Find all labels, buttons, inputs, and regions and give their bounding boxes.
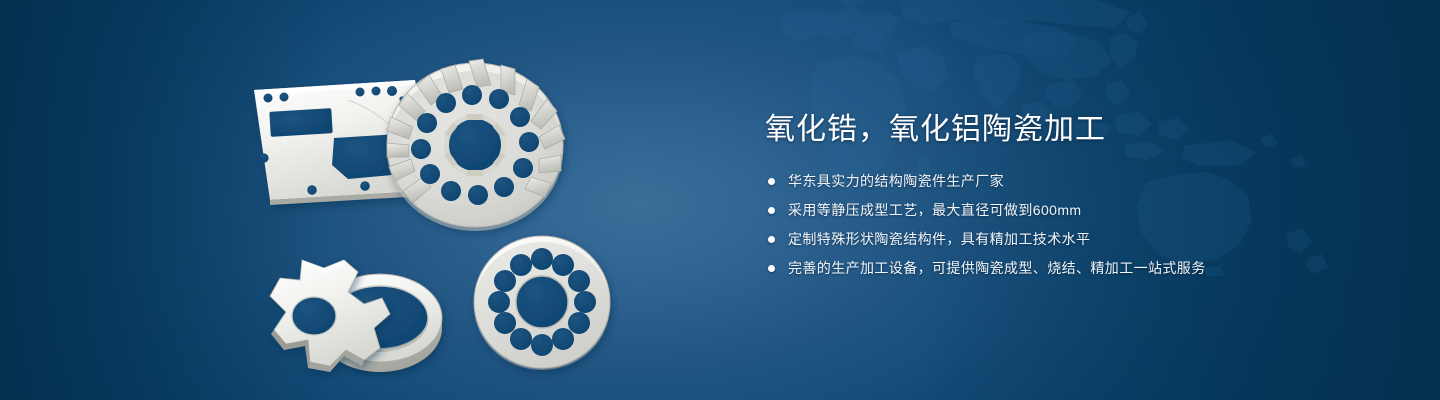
bullet-dot-icon bbox=[768, 178, 775, 185]
bullet-dot-icon bbox=[768, 265, 775, 272]
ceramic-products-image bbox=[230, 40, 700, 380]
list-item: 完善的生产加工设备，可提供陶瓷成型、烧结、精加工一站式服务 bbox=[765, 257, 1365, 279]
list-item: 华东具实力的结构陶瓷件生产厂家 bbox=[765, 170, 1365, 192]
list-item-label: 完善的生产加工设备，可提供陶瓷成型、烧结、精加工一站式服务 bbox=[788, 257, 1206, 279]
list-item: 定制特殊形状陶瓷结构件，具有精加工技术水平 bbox=[765, 228, 1365, 250]
bullet-dot-icon bbox=[768, 236, 775, 243]
hero-banner: 氧化锆，氧化铝陶瓷加工 华东具实力的结构陶瓷件生产厂家 采用等静压成型工艺，最大… bbox=[0, 0, 1440, 400]
list-item-label: 采用等静压成型工艺，最大直径可做到600mm bbox=[788, 199, 1081, 221]
list-item-label: 华东具实力的结构陶瓷件生产厂家 bbox=[788, 170, 1004, 192]
page-title: 氧化锆，氧化铝陶瓷加工 bbox=[765, 112, 1365, 148]
list-item: 采用等静压成型工艺，最大直径可做到600mm bbox=[765, 199, 1365, 221]
banner-copy: 氧化锆，氧化铝陶瓷加工 华东具实力的结构陶瓷件生产厂家 采用等静压成型工艺，最大… bbox=[765, 112, 1365, 286]
ceramic-perforated-disc bbox=[474, 236, 610, 370]
list-item-label: 定制特殊形状陶瓷结构件，具有精加工技术水平 bbox=[788, 228, 1090, 250]
bullet-dot-icon bbox=[768, 207, 775, 214]
feature-list: 华东具实力的结构陶瓷件生产厂家 采用等静压成型工艺，最大直径可做到600mm 定… bbox=[765, 170, 1365, 279]
